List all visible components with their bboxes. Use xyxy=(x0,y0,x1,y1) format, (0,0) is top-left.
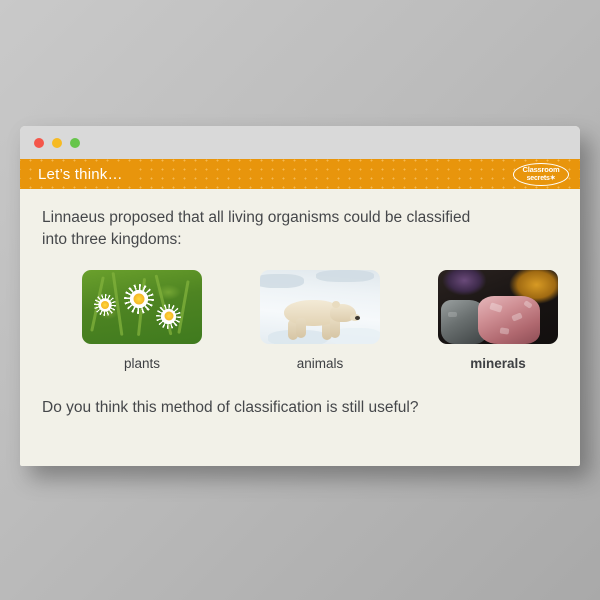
minimize-button[interactable] xyxy=(52,138,62,148)
kingdom-card-animals[interactable]: animals xyxy=(260,270,380,371)
banner-title: Let’s think… xyxy=(38,166,133,183)
close-button[interactable] xyxy=(34,138,44,148)
classroom-secrets-logo: Classroom secrets✶ xyxy=(513,163,569,186)
minerals-image xyxy=(438,270,558,344)
logo-line-one: Classroom xyxy=(523,166,560,174)
slide-body: Linnaeus proposed that all living organi… xyxy=(20,189,580,466)
kingdom-card-plants[interactable]: plants xyxy=(82,270,202,371)
slide-window: Let’s think… Classroom secrets✶ Linnaeus… xyxy=(20,126,580,466)
kingdom-card-minerals[interactable]: minerals xyxy=(438,270,558,371)
daisy-flower xyxy=(156,304,181,329)
window-titlebar xyxy=(20,126,580,159)
daisy-flower xyxy=(94,294,116,316)
plants-image xyxy=(82,270,202,344)
slide-banner: Let’s think… Classroom secrets✶ xyxy=(20,159,580,189)
kingdom-card-row: plants xyxy=(42,270,558,371)
plants-label: plants xyxy=(124,356,160,371)
minerals-label: minerals xyxy=(470,356,526,371)
daisy-flower xyxy=(124,284,154,314)
animals-label: animals xyxy=(297,356,344,371)
maximize-button[interactable] xyxy=(70,138,80,148)
intro-text: Linnaeus proposed that all living organi… xyxy=(42,207,482,252)
animals-image xyxy=(260,270,380,344)
question-text: Do you think this method of classificati… xyxy=(42,397,482,419)
logo-line-two: secrets✶ xyxy=(527,175,556,182)
